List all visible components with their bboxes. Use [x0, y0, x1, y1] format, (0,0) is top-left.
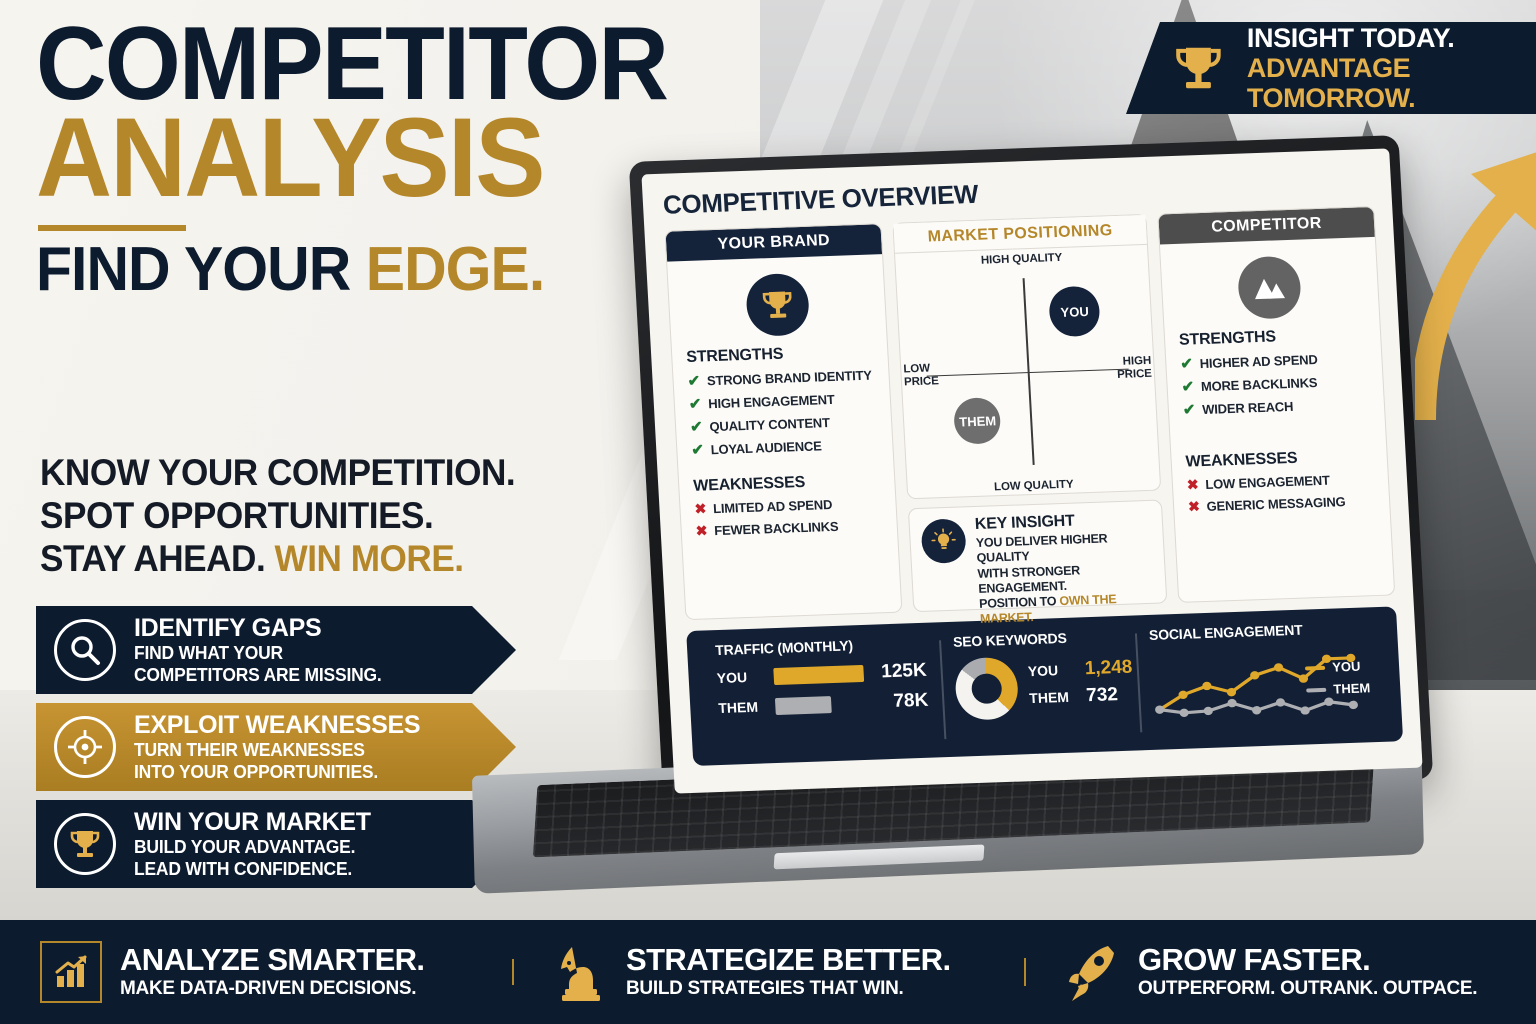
legend-label: THEM — [1333, 680, 1371, 696]
laptop-mockup: COMPETITIVE OVERVIEW YOUR BRAND — [468, 148, 1428, 888]
list-item-label: LOYAL AUDIENCE — [710, 438, 822, 457]
list-item: ✔LOYAL AUDIENCE — [691, 434, 879, 459]
mountain-icon — [1252, 274, 1287, 301]
footer-title: GROW FASTER. — [1138, 944, 1477, 976]
footer-title: STRATEGIZE BETTER. — [626, 944, 950, 976]
growth-arrow-icon — [1415, 130, 1536, 430]
axis-label-high-price: HIGH PRICE — [1116, 355, 1152, 381]
bar-fill-you — [773, 664, 864, 684]
weaknesses-label: WEAKNESSES — [693, 471, 881, 496]
list-item-label: LOW ENGAGEMENT — [1205, 473, 1330, 492]
kv-label: YOU — [1027, 662, 1076, 680]
check-icon: ✔ — [691, 440, 704, 458]
check-icon: ✔ — [1180, 354, 1193, 372]
legend-swatch — [1306, 687, 1326, 692]
panel-key-insight: KEY INSIGHT YOU DELIVER HIGHER QUALITY W… — [908, 499, 1167, 612]
kv-value: 1,248 — [1084, 657, 1133, 681]
trophy-icon — [759, 287, 795, 322]
bar-track — [773, 664, 864, 684]
tagline-ribbon: INSIGHT TODAY. ADVANTAGE TOMORROW. — [1126, 22, 1536, 114]
list-item: ✔MORE BACKLINKS — [1181, 371, 1369, 396]
panel-competitor: COMPETITOR STRENGTHS ✔HIGHER AD SPEND ✔M… — [1157, 206, 1395, 603]
bar-fill-them — [775, 696, 832, 715]
check-icon: ✔ — [1181, 377, 1194, 395]
feature-title: IDENTIFY GAPS — [134, 615, 389, 641]
feature-subtitle-line-1: TURN THEIR WEAKNESSES — [134, 740, 412, 760]
footer-subtitle: BUILD STRATEGIES THAT WIN. — [626, 979, 950, 1000]
bar-value: 78K — [874, 690, 929, 714]
panel-middle: MARKET POSITIONING HIGH QUALITY LOW QUAL… — [892, 214, 1167, 612]
ribbon-line-2: ADVANTAGE TOMORROW. — [1247, 53, 1536, 113]
check-icon: ✔ — [1182, 400, 1195, 418]
list-item-label: MORE BACKLINKS — [1201, 375, 1318, 394]
chart-legend: YOU THEM — [1305, 658, 1371, 704]
cross-icon: ✖ — [694, 500, 706, 517]
feature-banner-identify-gaps[interactable]: IDENTIFY GAPS FIND WHAT YOUR COMPETITORS… — [36, 606, 516, 694]
list-item-label: QUALITY CONTENT — [709, 415, 830, 434]
axis-label-low-quality: LOW QUALITY — [994, 479, 1074, 494]
footer-item-analyze: ANALYZE SMARTER. MAKE DATA-DRIVEN DECISI… — [0, 941, 512, 1003]
data-point-them: THEM — [953, 397, 1001, 445]
headline-divider — [38, 225, 186, 231]
check-icon: ✔ — [687, 372, 700, 390]
cross-icon: ✖ — [1186, 476, 1198, 493]
insight-body: YOU DELIVER HIGHER QUALITY WITH STRONGER… — [976, 530, 1157, 628]
donut-row: YOU 1,248 THEM 732 — [954, 653, 1125, 721]
feature-banner-exploit-weaknesses[interactable]: EXPLOIT WEAKNESSES TURN THEIR WEAKNESSES… — [36, 703, 516, 791]
metric-title: SEO KEYWORDS — [953, 628, 1122, 650]
panel-market-positioning: MARKET POSITIONING HIGH QUALITY LOW QUAL… — [892, 214, 1161, 499]
feature-banner-list: IDENTIFY GAPS FIND WHAT YOUR COMPETITORS… — [36, 606, 516, 897]
feature-subtitle-line-1: FIND WHAT YOUR — [134, 643, 382, 663]
weaknesses-label: WEAKNESSES — [1185, 447, 1373, 472]
kv-them: THEM 732 — [1029, 684, 1135, 710]
footer-item-strategize: STRATEGIZE BETTER. BUILD STRATEGIES THAT… — [512, 941, 1024, 1003]
axis-label-high-quality: HIGH QUALITY — [981, 252, 1063, 267]
metric-social-engagement: SOCIAL ENGAGEMENT YO — [1135, 619, 1389, 738]
list-item: ✖FEWER BACKLINKS — [695, 516, 883, 540]
target-icon — [54, 716, 116, 778]
bar-label: YOU — [716, 668, 765, 686]
trophy-icon — [1172, 37, 1225, 99]
footer-item-grow: GROW FASTER. OUTPERFORM. OUTRANK. OUTPAC… — [1024, 940, 1536, 1004]
dashboard: COMPETITIVE OVERVIEW YOUR BRAND — [641, 148, 1422, 793]
avatar — [1237, 256, 1302, 320]
bar-row-them: THEM 78K — [718, 690, 929, 719]
metric-title: TRAFFIC (MONTHLY) — [715, 635, 926, 658]
list-item: ✔QUALITY CONTENT — [690, 411, 878, 436]
magnifier-icon — [54, 619, 116, 681]
footer-subtitle: OUTPERFORM. OUTRANK. OUTPACE. — [1138, 979, 1477, 1000]
feature-subtitle-line-2: LEAD WITH CONFIDENCE. — [134, 859, 364, 879]
strengths-label: STRENGTHS — [1179, 325, 1367, 350]
list-item: ✔STRONG BRAND IDENTITY — [687, 365, 875, 390]
bar-chart-growth-icon — [40, 941, 102, 1003]
feature-title: EXPLOIT WEAKNESSES — [134, 712, 420, 738]
headline-line-3-a: FIND YOUR — [36, 235, 366, 304]
dashboard-columns: YOUR BRAND STR — [664, 206, 1395, 620]
metric-seo-keywords: SEO KEYWORDS YOU 1,248 THEM 732 — [939, 627, 1141, 745]
check-icon: ✔ — [688, 395, 701, 413]
rocket-icon — [1064, 940, 1120, 1004]
list-item-label: HIGHER AD SPEND — [1199, 351, 1318, 370]
feature-title: WIN YOUR MARKET — [134, 809, 371, 835]
donut-chart — [954, 657, 1019, 721]
feature-subtitle-line-1: BUILD YOUR ADVANTAGE. — [134, 837, 364, 857]
panel-body: STRENGTHS ✔HIGHER AD SPEND ✔MORE BACKLIN… — [1160, 237, 1391, 533]
feature-subtitle-line-2: COMPETITORS ARE MISSING. — [134, 665, 382, 685]
legend-item-you: YOU — [1305, 658, 1370, 675]
kv-you: YOU 1,248 — [1027, 657, 1133, 683]
avatar — [745, 273, 810, 337]
positioning-chart: HIGH QUALITY LOW QUALITY LOW PRICE HIGH … — [895, 245, 1160, 498]
list-item: ✖GENERIC MESSAGING — [1188, 492, 1376, 516]
metric-traffic: TRAFFIC (MONTHLY) YOU 125K THEM 78K — [701, 634, 945, 753]
feature-banner-win-your-market[interactable]: WIN YOUR MARKET BUILD YOUR ADVANTAGE. LE… — [36, 800, 516, 888]
bar-track — [775, 694, 866, 714]
kv-value: 732 — [1086, 684, 1119, 707]
panel-your-brand: YOUR BRAND STR — [664, 223, 902, 620]
strengths-label: STRENGTHS — [686, 342, 874, 367]
ribbon-line-1: INSIGHT TODAY. — [1247, 23, 1536, 53]
cross-icon: ✖ — [1188, 498, 1200, 515]
panel-body: STRENGTHS ✔STRONG BRAND IDENTITY ✔HIGH E… — [667, 254, 898, 557]
list-item: ✖LOW ENGAGEMENT — [1186, 470, 1374, 494]
metrics-strip: TRAFFIC (MONTHLY) YOU 125K THEM 78K — [686, 606, 1403, 766]
list-item-label: STRONG BRAND IDENTITY — [707, 367, 873, 388]
list-item-label: WIDER REACH — [1202, 398, 1294, 416]
bar-label: THEM — [718, 698, 767, 716]
check-icon: ✔ — [690, 417, 703, 435]
legend-item-them: THEM — [1306, 680, 1371, 697]
axis-label-low-price: LOW PRICE — [903, 362, 939, 388]
trophy-icon — [54, 813, 116, 875]
subheadline-line-3-a: STAY AHEAD. — [40, 538, 275, 579]
cross-icon: ✖ — [695, 522, 707, 539]
list-item: ✖LIMITED AD SPEND — [694, 494, 882, 518]
legend-label: YOU — [1332, 659, 1361, 675]
chess-knight-icon — [552, 941, 608, 1003]
bar-value: 125K — [872, 660, 927, 684]
sparkline-chart: YOU THEM — [1150, 644, 1374, 724]
list-item-label: FEWER BACKLINKS — [714, 519, 839, 538]
data-point-you: YOU — [1048, 286, 1101, 338]
infographic-canvas: COMPETITOR ANALYSIS FIND YOUR EDGE. KNOW… — [0, 0, 1536, 1024]
bar-row-you: YOU 125K — [716, 660, 927, 689]
list-item-label: HIGH ENGAGEMENT — [708, 391, 835, 410]
laptop-screen: COMPETITIVE OVERVIEW YOUR BRAND — [641, 148, 1422, 793]
list-item: ✔WIDER REACH — [1182, 394, 1370, 419]
subheadline-line-3-b: WIN MORE. — [275, 538, 464, 579]
feature-subtitle-line-2: INTO YOUR OPPORTUNITIES. — [134, 762, 412, 782]
list-item-label: LIMITED AD SPEND — [713, 497, 833, 516]
list-item: ✔HIGHER AD SPEND — [1180, 348, 1368, 373]
metric-title: SOCIAL ENGAGEMENT — [1149, 619, 1370, 643]
laptop-trackpad — [774, 845, 985, 870]
lightbulb-icon — [921, 518, 967, 563]
list-item-label: GENERIC MESSAGING — [1206, 494, 1346, 514]
legend-swatch — [1305, 665, 1325, 670]
list-item: ✔HIGH ENGAGEMENT — [688, 388, 876, 413]
footer-title: ANALYZE SMARTER. — [120, 944, 424, 976]
kv-label: THEM — [1029, 689, 1078, 707]
footer-subtitle: MAKE DATA-DRIVEN DECISIONS. — [120, 979, 424, 1000]
footer-bar: ANALYZE SMARTER. MAKE DATA-DRIVEN DECISI… — [0, 920, 1536, 1024]
